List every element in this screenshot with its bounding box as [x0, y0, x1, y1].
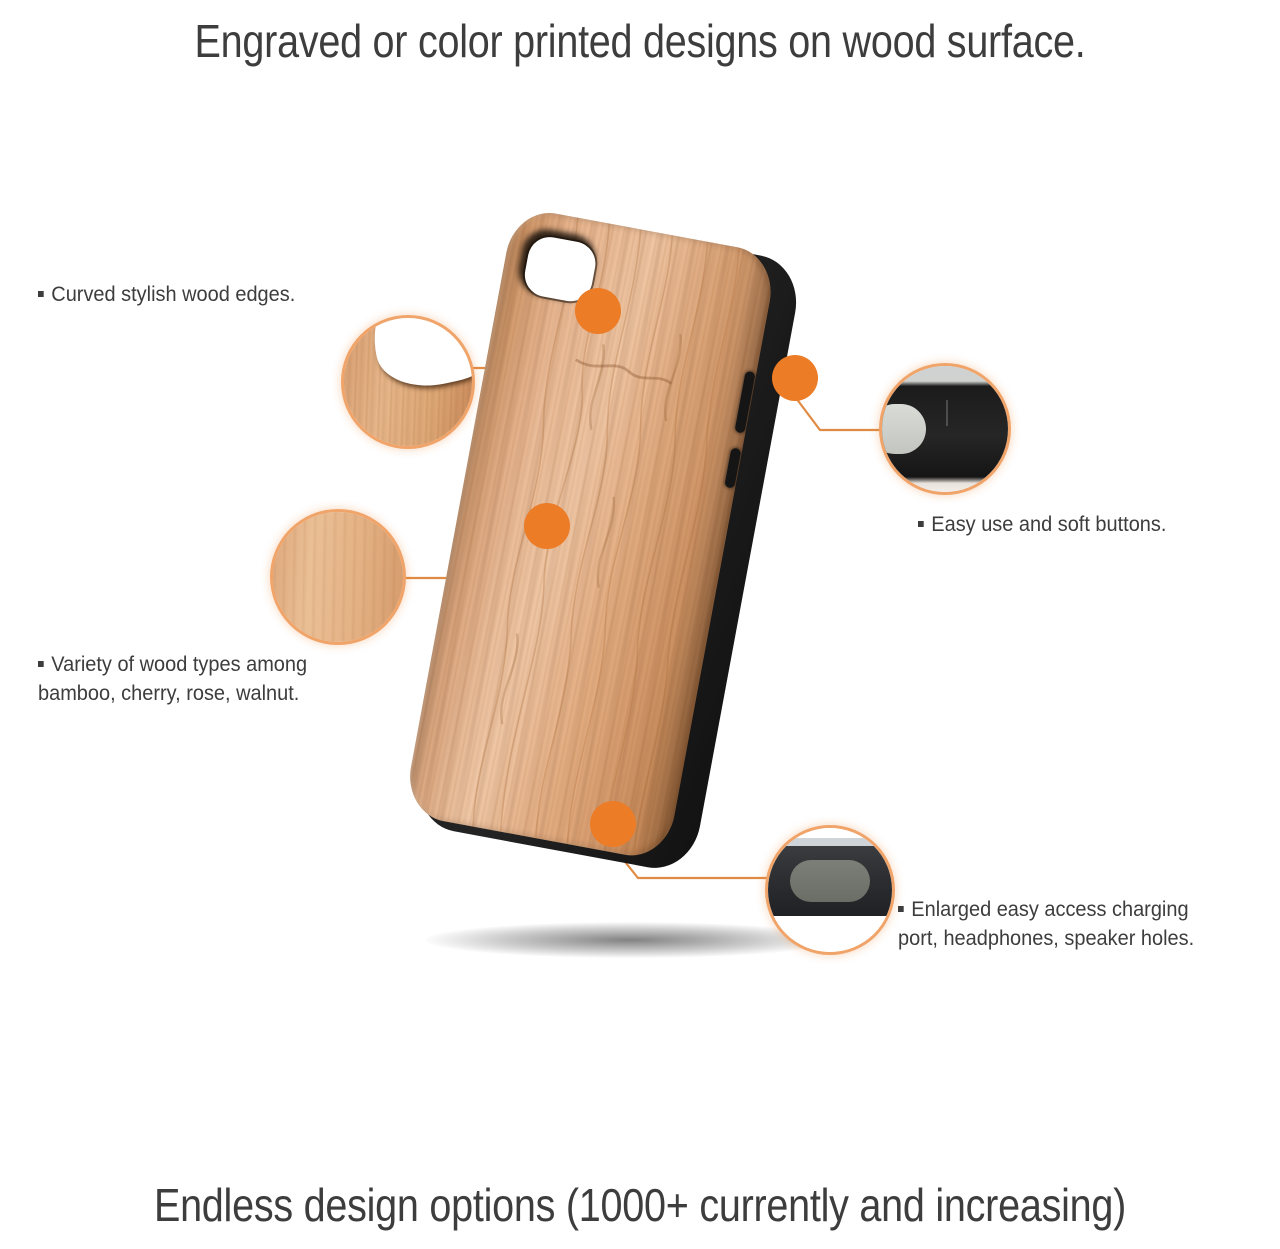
hotspot-wood-face[interactable] [524, 503, 570, 549]
detail-wood-edge-closeup [344, 318, 472, 446]
detail-charging-port-closeup [768, 828, 892, 952]
callout-text: Easy use and soft buttons. [931, 513, 1166, 536]
port-opening [790, 860, 870, 902]
callout-label-charging-port: Enlarged easy access charging port, head… [898, 896, 1240, 954]
hotspot-camera-edge[interactable] [575, 288, 621, 334]
callout-text: Enlarged easy access charging [911, 898, 1188, 921]
callout-text-line2: port, headphones, speaker holes. [898, 925, 1240, 954]
callout-label-soft-buttons: Easy use and soft buttons. [918, 511, 1166, 540]
infographic-stage: Curved stylish wood edges. Variety of wo… [0, 0, 1280, 1249]
bullet-icon [38, 291, 44, 297]
bullet-icon [38, 661, 44, 667]
button-seam [946, 400, 948, 426]
detail-wood-grain-closeup [273, 512, 403, 642]
hotspot-bottom-port[interactable] [590, 801, 636, 847]
callout-text: Variety of wood types among [51, 653, 307, 676]
wood-texture [273, 512, 403, 642]
callout-label-wood-variety: Variety of wood types among bamboo, cher… [38, 651, 380, 709]
bullet-icon [918, 521, 924, 527]
bullet-icon [898, 906, 904, 912]
detail-side-button-closeup [882, 366, 1008, 492]
hotspot-side-button[interactable] [772, 355, 818, 401]
footer-tagline: Endless design options (1000+ currently … [90, 1182, 1191, 1228]
callout-label-curved-edges: Curved stylish wood edges. [38, 281, 295, 310]
callout-text: Curved stylish wood edges. [51, 283, 295, 306]
callout-text-line2: bamboo, cherry, rose, walnut. [38, 680, 380, 709]
